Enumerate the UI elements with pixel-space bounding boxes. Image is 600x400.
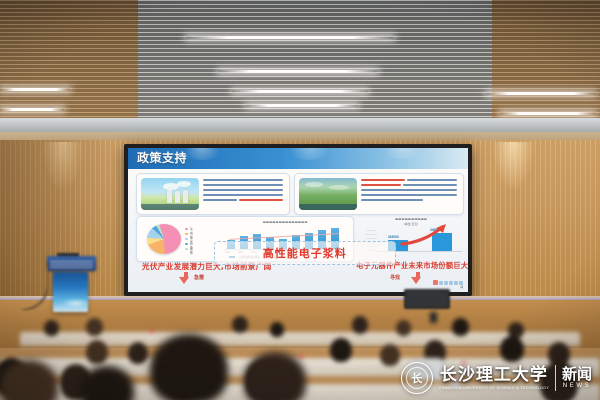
ceiling-light-strip (232, 90, 368, 93)
section-name-en: NEWS (563, 383, 591, 389)
photo-green-mountains (299, 178, 357, 210)
photo-power-plant (141, 178, 199, 210)
ceiling-light-strip (486, 92, 596, 95)
seal-char: 长 (411, 370, 422, 386)
lecture-hall-photo: 政策支持 (0, 0, 600, 400)
podium (47, 256, 96, 308)
ceiling-light-strip (0, 88, 70, 91)
ceiling (0, 0, 600, 150)
slide-title: 政策支持 (137, 151, 187, 166)
audience-head (150, 334, 228, 400)
ceiling-light-strip (0, 108, 64, 111)
ceiling-light-strip (218, 70, 378, 73)
section-name-cn: 新闻 (562, 367, 592, 382)
right-chart-title: ▬▬▬▬▬▬▬▬▬▬ (360, 217, 462, 221)
slide-card-left (136, 173, 290, 215)
photo-right-caption (299, 204, 357, 210)
ceiling-light-strip (246, 104, 358, 107)
watermark-divider (555, 365, 556, 391)
podium-screen-glow (61, 298, 91, 308)
podium-banner-text (50, 261, 93, 269)
audience-head (0, 360, 58, 400)
news-watermark: 长 长沙理工大学 CHANGSHA UNIVERSITY OF SCIENCE … (401, 362, 592, 394)
university-name-cn: 长沙理工大学 (440, 367, 548, 384)
podium-screen (53, 272, 88, 312)
slide-card-right (294, 173, 464, 215)
university-name-en: CHANGSHA UNIVERSITY OF SCIENCE & TECHNOL… (439, 386, 549, 390)
ceiling-light-strip (186, 36, 394, 39)
stage-monitor (404, 289, 450, 309)
audience-head (80, 366, 134, 400)
audience-phone (430, 312, 437, 323)
podium-banner (47, 256, 96, 271)
ceiling-light-strip (500, 112, 596, 115)
photo-left-caption (141, 204, 199, 210)
audience-head (244, 352, 306, 400)
bar-chart-title: ▬▬▬▬▬▬▬▬▬▬▬▬▬▬ (223, 220, 347, 224)
university-seal-icon: 长 (401, 362, 433, 394)
